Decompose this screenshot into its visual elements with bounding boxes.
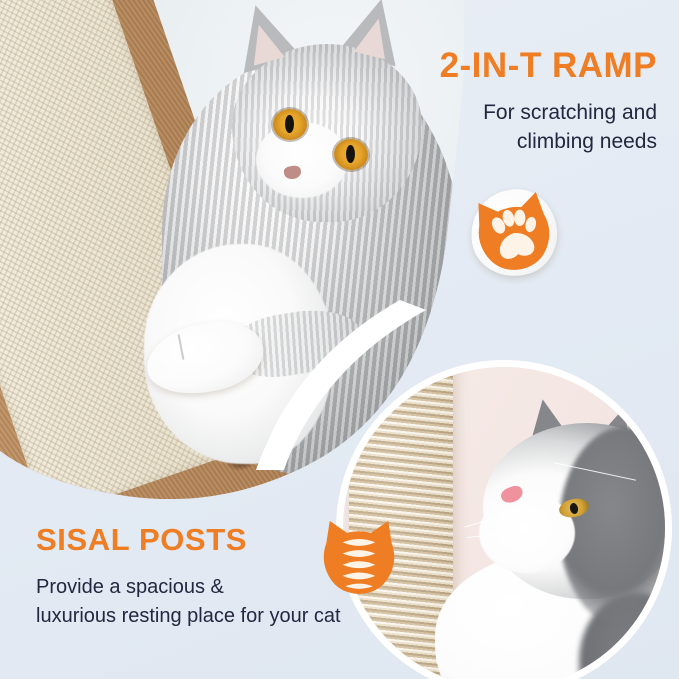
cat-head-paw-icon: [464, 183, 565, 284]
top-feature-description-line-1: For scratching and: [277, 99, 657, 128]
bottom-feature-description-line-2: luxurious resting place for your cat: [36, 602, 436, 631]
top-feature-headline: 2-IN-T RAMP: [277, 48, 657, 85]
top-feature-description: For scratching and climbing needs: [277, 99, 657, 157]
product-feature-poster: 2-IN-T RAMP For scratching and climbing …: [0, 0, 679, 679]
top-feature-text-block: 2-IN-T RAMP For scratching and climbing …: [277, 48, 657, 157]
cat-head-sisal-icon: [316, 514, 402, 600]
top-feature-description-line-2: climbing needs: [277, 128, 657, 157]
